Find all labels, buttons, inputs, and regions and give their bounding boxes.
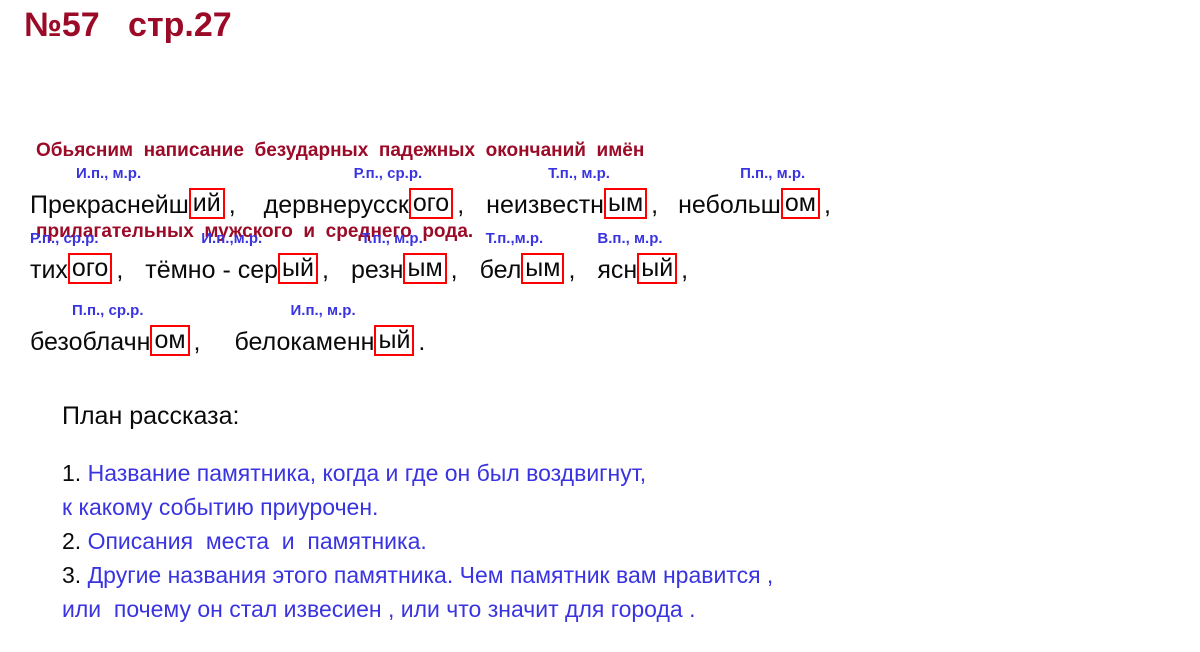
punctuation: ,	[190, 328, 201, 356]
word-stem: безоблачн	[30, 328, 150, 356]
analysed-word: П.п., м.р.небольшом,	[678, 166, 831, 219]
boxed-ending: ым	[403, 253, 446, 284]
analysed-word: Т.п., м.р.неизвестным,	[486, 166, 658, 219]
word-stem: белокаменн	[235, 328, 375, 356]
word-stem: резн	[351, 256, 404, 284]
page-title: №57 стр.27	[24, 6, 232, 45]
analysed-word: П.п., ср.р.безоблачном,	[30, 303, 201, 356]
analysed-word: И.п.,м.р.тёмно - серый,	[145, 231, 329, 284]
case-label: П.п., м.р.	[740, 166, 805, 182]
punctuation: ,	[453, 191, 464, 219]
plan-item-number: 2.	[62, 528, 88, 554]
word-row: П.п., ср.р.безоблачном,И.п., м.р.белокам…	[30, 303, 425, 356]
word-row: И.п., м.р.Прекраснейший,Р.п., ср.р.дервн…	[30, 166, 831, 219]
punctuation: ,	[112, 256, 123, 284]
case-label: Т.п., м.р.	[361, 231, 423, 247]
plan-item-text: или почему он стал извесиен , или что зн…	[62, 596, 695, 622]
plan-item-text: Название памятника, когда и где он был в…	[88, 460, 647, 486]
case-label: Р.п., ср.р.	[30, 231, 99, 247]
boxed-ending: ый	[278, 253, 318, 284]
plan-list-item-line: 1. Название памятника, когда и где он бы…	[62, 456, 1062, 490]
analysed-word: Т.п., м.р.резным,	[351, 231, 458, 284]
boxed-ending: ого	[68, 253, 112, 284]
case-label: Т.п.,м.р.	[486, 231, 544, 247]
boxed-ending: ый	[637, 253, 677, 284]
boxed-ending: ым	[604, 188, 647, 219]
intro-line: Обьясним написание безударных падежных о…	[36, 137, 644, 164]
case-label: И.п., м.р.	[76, 166, 141, 182]
case-label: Т.п., м.р.	[548, 166, 610, 182]
analysed-word: Р.п., ср.р.дервнерусского,	[264, 166, 465, 219]
punctuation: ,	[447, 256, 458, 284]
boxed-ending: ый	[374, 325, 414, 356]
word-stem: неизвестн	[486, 191, 604, 219]
boxed-ending: ом	[781, 188, 820, 219]
punctuation: ,	[647, 191, 658, 219]
case-label: И.п.,м.р.	[201, 231, 262, 247]
punctuation: ,	[564, 256, 575, 284]
analysed-word: Р.п., ср.р.тихого,	[30, 231, 123, 284]
word-stem: дервнерусск	[264, 191, 409, 219]
plan-list: 1. Название памятника, когда и где он бы…	[62, 456, 1062, 626]
boxed-ending: ого	[409, 188, 453, 219]
plan-item-number: 1.	[62, 460, 88, 486]
plan-list-item-line: 2. Описания места и памятника.	[62, 524, 1062, 558]
punctuation: ,	[318, 256, 329, 284]
analysed-word: И.п., м.р.Прекраснейший,	[30, 166, 236, 219]
word-stem: тих	[30, 256, 68, 284]
plan-item-text: Описания места и памятника.	[88, 528, 427, 554]
analysed-word: В.п., м.р.ясный,	[597, 231, 688, 284]
plan-item-number: 3.	[62, 562, 88, 588]
case-label: П.п., ср.р.	[72, 303, 144, 319]
analysed-word: Т.п.,м.р.белым,	[480, 231, 576, 284]
word-stem: Прекраснейш	[30, 191, 189, 219]
boxed-ending: ым	[521, 253, 564, 284]
case-label: Р.п., ср.р.	[354, 166, 423, 182]
plan-heading: План рассказа:	[62, 402, 239, 431]
worksheet-page: { "header": { "title": "№57 стр.27", "ti…	[0, 0, 1200, 652]
plan-item-text: к какому событию приурочен.	[62, 494, 378, 520]
plan-list-item-line: к какому событию приурочен.	[62, 490, 1062, 524]
plan-list-item-line: или почему он стал извесиен , или что зн…	[62, 592, 1062, 626]
punctuation: ,	[225, 191, 236, 219]
punctuation: ,	[820, 191, 831, 219]
word-stem: тёмно - сер	[145, 256, 278, 284]
word-stem: небольш	[678, 191, 781, 219]
case-label: И.п., м.р.	[291, 303, 356, 319]
boxed-ending: ом	[150, 325, 189, 356]
plan-item-text: Другие названия этого памятника. Чем пам…	[88, 562, 774, 588]
plan-list-item-line: 3. Другие названия этого памятника. Чем …	[62, 558, 1062, 592]
boxed-ending: ий	[189, 188, 225, 219]
word-row: Р.п., ср.р.тихого,И.п.,м.р.тёмно - серый…	[30, 231, 688, 284]
analysed-word: И.п., м.р.белокаменный.	[235, 303, 426, 356]
punctuation: ,	[677, 256, 688, 284]
case-label: В.п., м.р.	[597, 231, 662, 247]
word-stem: бел	[480, 256, 522, 284]
word-stem: ясн	[597, 256, 637, 284]
punctuation: .	[414, 328, 425, 356]
